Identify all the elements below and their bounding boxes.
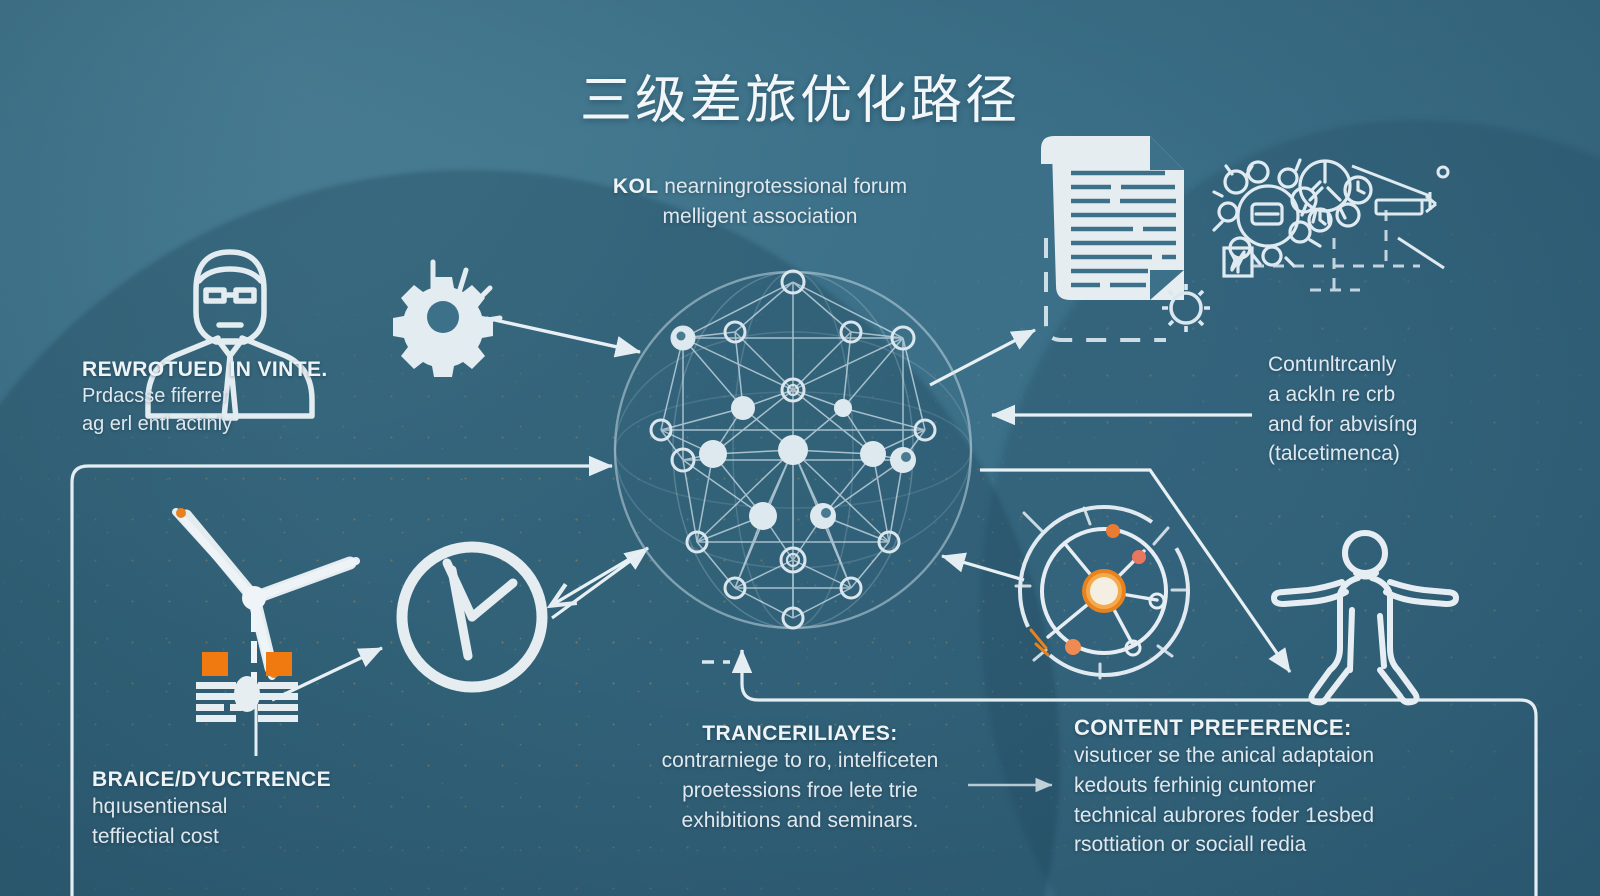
document-icon [1041, 136, 1210, 332]
atom-orbit-icon [996, 483, 1211, 698]
kol-line-1-text: nearningrotessional forum [658, 175, 907, 198]
bar-blocks-icon [196, 652, 298, 722]
bottom-right-line-2: kedouts ferhinig cuntomer [1074, 771, 1504, 801]
text-block-right-top: Contınltrcanly a ackIn re crb and for ab… [1268, 350, 1588, 469]
bottom-right-heading: CONTENT PREFERENCE: [1074, 715, 1504, 741]
right-top-line-4: (talcetimenca) [1268, 439, 1588, 469]
left-top-line-1: Prdacsse fiferrer [82, 382, 412, 410]
bottom-right-line-4: rsottiation or sociall redia [1074, 830, 1504, 860]
right-top-line-3: and for abvisíng [1268, 410, 1588, 440]
network-cluster-icon [1214, 160, 1371, 276]
standing-figure-icon [1274, 533, 1456, 702]
left-top-line-2: ag erl entl actinly [82, 410, 412, 438]
left-top-heading: REWROTUED IN VINTE. [82, 358, 412, 382]
text-block-bottom-center: TRANCERILIAYES: contrarniege to ro, inte… [600, 722, 1000, 835]
infographic-canvas: 三级差旅优化路径 KOL nearningrotessional forum m… [0, 0, 1600, 896]
right-top-line-2: a ackIn re crb [1268, 380, 1588, 410]
text-block-left-top: REWROTUED IN VINTE. Prdacsse fiferrer ag… [82, 358, 412, 439]
bottom-center-line-1: contrarniege to ro, intelficeten [600, 746, 1000, 776]
bottom-center-line-3: exhibitions and seminars. [600, 806, 1000, 836]
bottom-right-line-1: visutıcer se the anical adaptaion [1074, 741, 1504, 771]
right-top-line-1: Contınltrcanly [1268, 350, 1588, 380]
kol-line-2: melligent association [663, 205, 858, 228]
text-block-bottom-left: BRAICE/DYUCTRENCE hqıusentiensal teffiec… [92, 768, 422, 852]
kol-line-1: KOL nearningrotessional forum [540, 172, 980, 202]
bottom-left-line-2: teffiectial cost [92, 822, 422, 852]
text-block-bottom-right: CONTENT PREFERENCE: visutıcer se the ani… [1074, 715, 1504, 860]
bottom-center-line-2: proetessions froe lete trie [600, 776, 1000, 806]
text-block-kol: KOL nearningrotessional forum melligent … [540, 172, 980, 232]
page-title: 三级差旅优化路径 [0, 58, 1600, 133]
bottom-center-heading: TRANCERILIAYES: [600, 722, 1000, 746]
clock-icon [402, 547, 542, 687]
bottom-right-line-3: technical aubrores foder 1esbed [1074, 801, 1504, 831]
bottom-left-line-1: hqıusentiensal [92, 792, 422, 822]
kol-heading: KOL [613, 175, 659, 198]
bottom-left-heading: BRAICE/DYUCTRENCE [92, 768, 422, 792]
